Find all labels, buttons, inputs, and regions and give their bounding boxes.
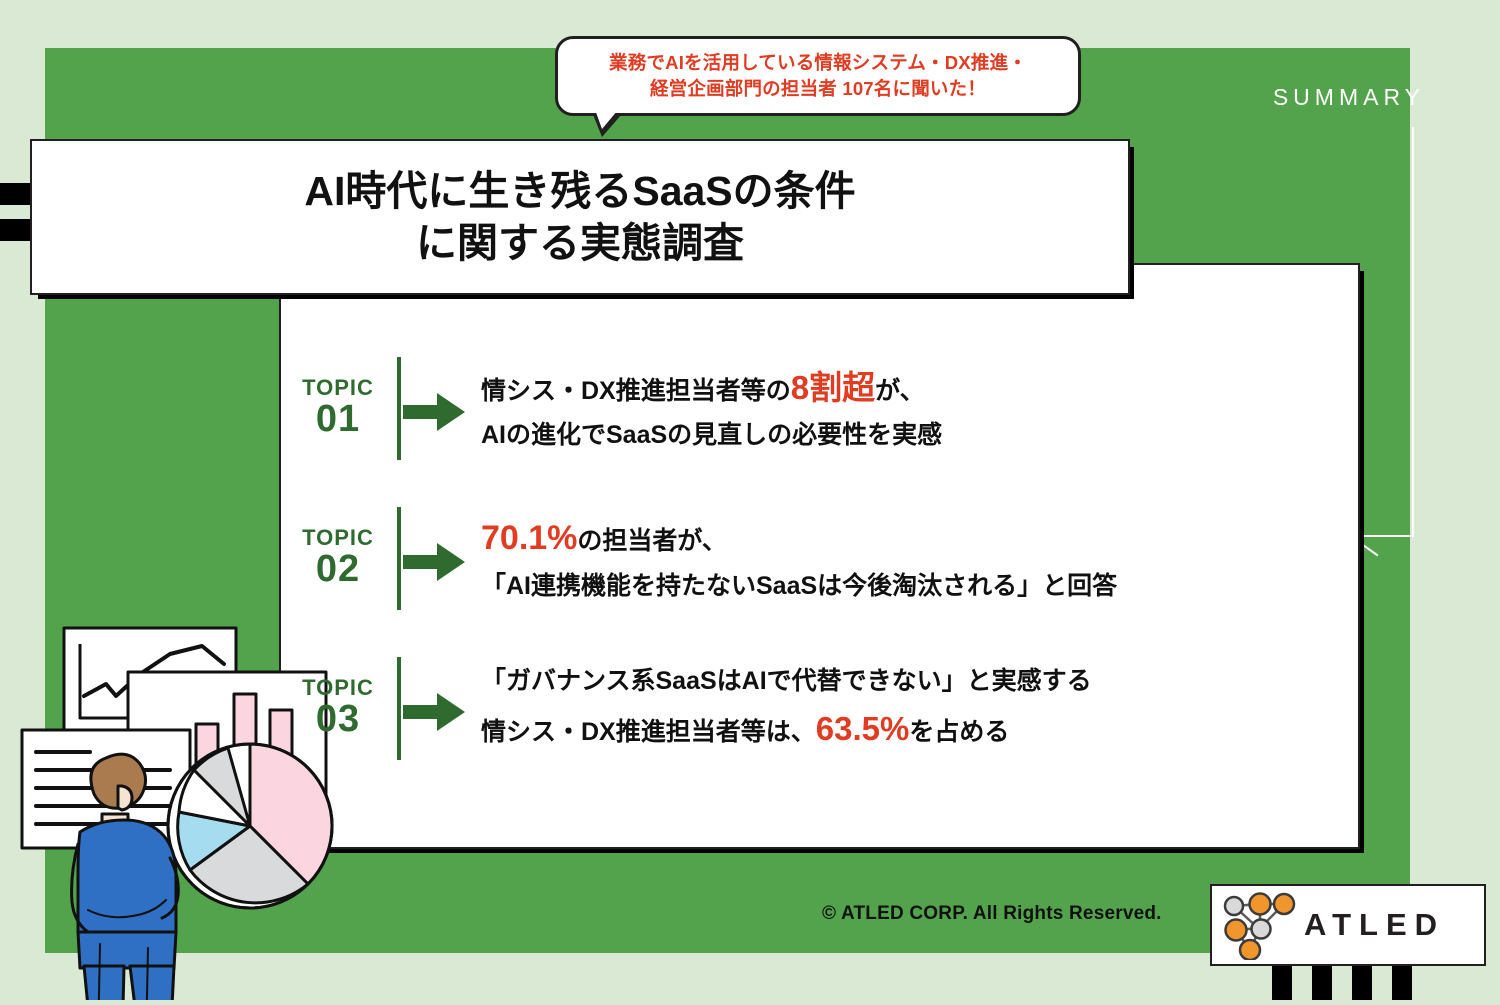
topic-kicker: TOPIC (279, 526, 397, 549)
topic-label: TOPIC 02 (279, 526, 397, 591)
topic-body: 70.1%の担当者が、 「AI連携機能を持たないSaaSは今後淘汰される」と回答 (469, 510, 1356, 607)
callout-line-1: 業務でAIを活用している情報システム・DX推進・ (609, 50, 1027, 76)
callout-text: 業務でAIを活用している情報システム・DX推進・ 経営企画部門の担当者 107名… (609, 50, 1027, 103)
topic-number: 02 (279, 549, 397, 591)
topic-body: 情シス・DX推進担当者等の8割超が、 AIの進化でSaaSの見直しの必要性を実感 (469, 361, 1356, 457)
page-title-line-1: AI時代に生き残るSaaSの条件 (304, 165, 855, 217)
topic-text-post: の担当者が、 (577, 527, 727, 555)
decorative-black-bars-bottom (1272, 960, 1452, 1000)
title-box: AI時代に生き残るSaaSの条件 に関する実態調査 (30, 139, 1130, 295)
decorative-black-bar-left-top (0, 183, 32, 205)
topic-highlight-value: 8割超 (791, 369, 875, 406)
page-title: AI時代に生き残るSaaSの条件 に関する実態調査 (304, 165, 855, 270)
arrow-right-icon (401, 679, 469, 739)
atled-logo-plate: ATLED (1210, 884, 1486, 966)
topic-body-line-2: 「AI連携機能を持たないSaaSは今後淘汰される」と回答 (481, 566, 1356, 607)
page-title-line-2: に関する実態調査 (304, 217, 855, 269)
topic-number: 01 (279, 399, 397, 441)
topic-highlight-value: 70.1% (481, 519, 577, 557)
topic-row: TOPIC 02 70.1%の担当者が、 「AI連携機能を持たないSaaSは今後… (279, 491, 1356, 626)
topic-text-pre: 情シス・DX推進担当者等の (481, 377, 791, 405)
arrow-right-icon (401, 379, 469, 439)
decorative-bar (1272, 960, 1292, 1000)
atled-network-icon (1216, 890, 1302, 960)
callout-line-2: 経営企画部門の担当者 107名に聞いた！ (609, 76, 1027, 102)
topic-kicker: TOPIC (279, 676, 397, 699)
topic-text-post: を占める (909, 718, 1009, 746)
topic-number: 03 (279, 699, 397, 741)
decorative-bar (1392, 960, 1412, 1000)
slide-canvas: SUMMARY 業務でAIを活用している情報システム・DX推進・ 経営企画部門の… (0, 0, 1500, 1000)
atled-wordmark: ATLED (1304, 907, 1445, 943)
topic-kicker: TOPIC (279, 376, 397, 399)
copyright-text: © ATLED CORP. All Rights Reserved. (822, 903, 1162, 925)
topic-text-post: が、 (875, 377, 925, 405)
survey-callout-bubble: 業務でAIを活用している情報システム・DX推進・ 経営企画部門の担当者 107名… (555, 36, 1081, 116)
topic-body-line-1: 情シス・DX推進担当者等の8割超が、 (481, 361, 1356, 415)
topic-highlight-value: 63.5% (816, 710, 910, 747)
decorative-black-bar-left-bottom (0, 219, 32, 241)
topic-body-line-1: 70.1%の担当者が、 (481, 510, 1356, 566)
callout-tail-fill (593, 104, 623, 129)
topic-label: TOPIC 03 (279, 676, 397, 741)
arrow-right-icon (401, 529, 469, 589)
topic-label: TOPIC 01 (279, 376, 397, 441)
topic-body-line-1: 「ガバナンス系SaaSはAIで代替できない」と実感する (481, 661, 1356, 702)
topic-list: TOPIC 01 情シス・DX推進担当者等の8割超が、 AIの進化でSaaSの見… (279, 263, 1356, 845)
decorative-bar (1352, 960, 1372, 1000)
topic-body-line-2: AIの進化でSaaSの見直しの必要性を実感 (481, 415, 1356, 456)
topic-body: 「ガバナンス系SaaSはAIで代替できない」と実感する 情シス・DX推進担当者等… (469, 661, 1356, 757)
topic-row: TOPIC 01 情シス・DX推進担当者等の8割超が、 AIの進化でSaaSの見… (279, 341, 1356, 476)
guide-line-vertical (1412, 127, 1414, 537)
decorative-bar (1312, 960, 1332, 1000)
section-label-summary: SUMMARY (1273, 84, 1425, 111)
topic-text-pre: 情シス・DX推進担当者等は、 (481, 718, 816, 746)
topic-row: TOPIC 03 「ガバナンス系SaaSはAIで代替できない」と実感する 情シス… (279, 641, 1356, 776)
topic-body-line-2: 情シス・DX推進担当者等は、63.5%を占める (481, 702, 1356, 756)
